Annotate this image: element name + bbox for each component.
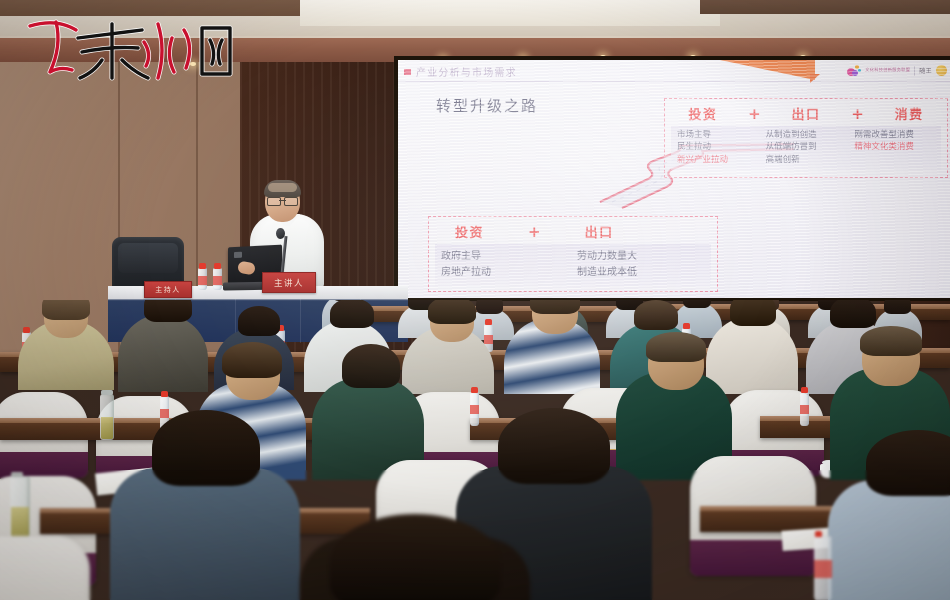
box-top-plus-2: + [851,105,864,123]
box-top-column-3: 刚需改善型消费 精神文化类消费 [850,129,939,166]
box-top-item: 刚需改善型消费 [854,129,935,141]
box-bottom-column-2: 劳动力数量大 制造业成本低 [573,249,709,280]
ceiling-beam-right [700,0,950,14]
box-top-word-2: 出口 [791,104,820,123]
attendee-hair [476,300,503,314]
box-top-word-1: 投资 [688,104,717,123]
slide-title: 转型升级之路 [436,95,538,116]
box-bottom-item: 劳动力数量大 [577,249,705,265]
tea-jar [10,476,30,538]
box-bottom-heading: 投资 + 出口 [429,217,717,243]
attendee-hair [238,306,280,336]
box-bottom-column-1: 政府主导 房地产拉动 [437,249,573,280]
box-bottom-body: 政府主导 房地产拉动 劳动力数量大 制造业成本低 [435,244,711,286]
bottle-label [213,276,222,285]
attendee-body [118,314,208,392]
slide-box-bottom: 投资 + 出口 政府主导 房地产拉动 劳动力数量大 制造业成本低 [428,216,718,292]
attendee-body [110,468,300,600]
attendee-hair [342,344,400,388]
attendee-hair [330,514,500,600]
speaker-hair [264,180,301,197]
ceiling-light-panel [300,0,720,26]
box-top-item-highlight: 新兴产业拉动 [677,154,758,166]
slide-header-rule [398,81,950,82]
box-top-plus-1: + [748,105,761,123]
watermark-tianshui-net [16,8,246,88]
attendee-hair [866,430,950,496]
attendee-hair [144,300,192,322]
slide-box-top: 投资 + 出口 + 消费 市场主导 民生拉动 新兴产业拉动 从制造到创造 从低端… [664,98,948,178]
slide-header: 产业分析与市场需求 [404,63,517,80]
attendee-hair [884,300,911,314]
water-bottle [800,392,809,426]
watermark-svg [16,8,246,88]
attendee-hair [42,300,90,320]
attendee-hair [530,300,580,314]
box-top-word-3: 消费 [895,104,924,123]
bottle-label [198,276,207,285]
orange-wedge-tail [810,74,820,83]
conference-photo: 产业分析与市场需求 文化科技创新服务联盟 随王 转型升级之路 [0,0,950,600]
box-bottom-word-2: 出口 [585,222,614,241]
box-top-heading: 投资 + 出口 + 消费 [665,99,947,125]
projection-screen: 产业分析与市场需求 文化科技创新服务联盟 随王 转型升级之路 [398,60,950,298]
attendee-hair [428,300,476,324]
box-bottom-item: 房地产拉动 [441,265,569,281]
alliance-logo-text: 文化科技创新服务联盟 [865,68,910,73]
attendee-hair [860,326,922,356]
orange-wedge-decoration [720,60,815,80]
box-bottom-plus: + [528,223,541,241]
attendee-hair [683,300,711,308]
speaker-nameplate: 主讲人 [262,272,316,293]
alliance-dots-icon [847,64,861,77]
logo-divider [914,66,915,76]
slide-logo-strip: 文化科技创新服务联盟 随王 [847,64,947,77]
box-top-item-highlight: 精神文化类消费 [854,141,935,153]
box-top-item: 从低端仿冒到 [766,141,847,153]
tea-jar [100,394,114,440]
box-top-item: 市场主导 [677,129,758,141]
box-top-column-2: 从制造到创造 从低端仿冒到 高端创新 [762,129,851,166]
audience-area [0,300,950,600]
water-bottle [213,268,222,290]
water-bottle [470,392,479,426]
box-bottom-item: 制造业成本低 [577,265,705,281]
box-bottom-item: 政府主导 [441,249,569,265]
bullet-square-icon [404,69,411,75]
water-bottle [198,268,207,290]
brand-mark-icon [936,65,947,76]
chair [0,536,90,600]
attendee-hair [498,408,610,484]
attendee-hair [152,410,260,486]
box-top-item: 从制造到创造 [766,129,847,141]
host-nameplate: 主持人 [144,281,192,298]
attendee-hair [646,332,706,362]
slide-header-text: 产业分析与市场需求 [416,64,517,79]
brand-logo-text: 随王 [919,66,932,75]
box-bottom-word-1: 投资 [455,222,484,241]
speaker-glasses [267,197,298,204]
attendee-hair [222,342,282,378]
water-bottle [814,536,832,600]
box-top-body: 市场主导 民生拉动 新兴产业拉动 从制造到创造 从低端仿冒到 高端创新 刚需改善… [671,126,941,170]
box-top-item: 高端创新 [766,154,847,166]
box-top-item: 民生拉动 [677,141,758,153]
attendee-hair [330,300,374,328]
attendee-hair [730,300,776,326]
microphone-head [276,228,285,239]
box-top-column-1: 市场主导 民生拉动 新兴产业拉动 [673,129,762,166]
attendee-hair [634,300,678,330]
laptop-logo [234,252,242,258]
attendee-hair [830,300,876,328]
attendee-body [828,480,950,600]
